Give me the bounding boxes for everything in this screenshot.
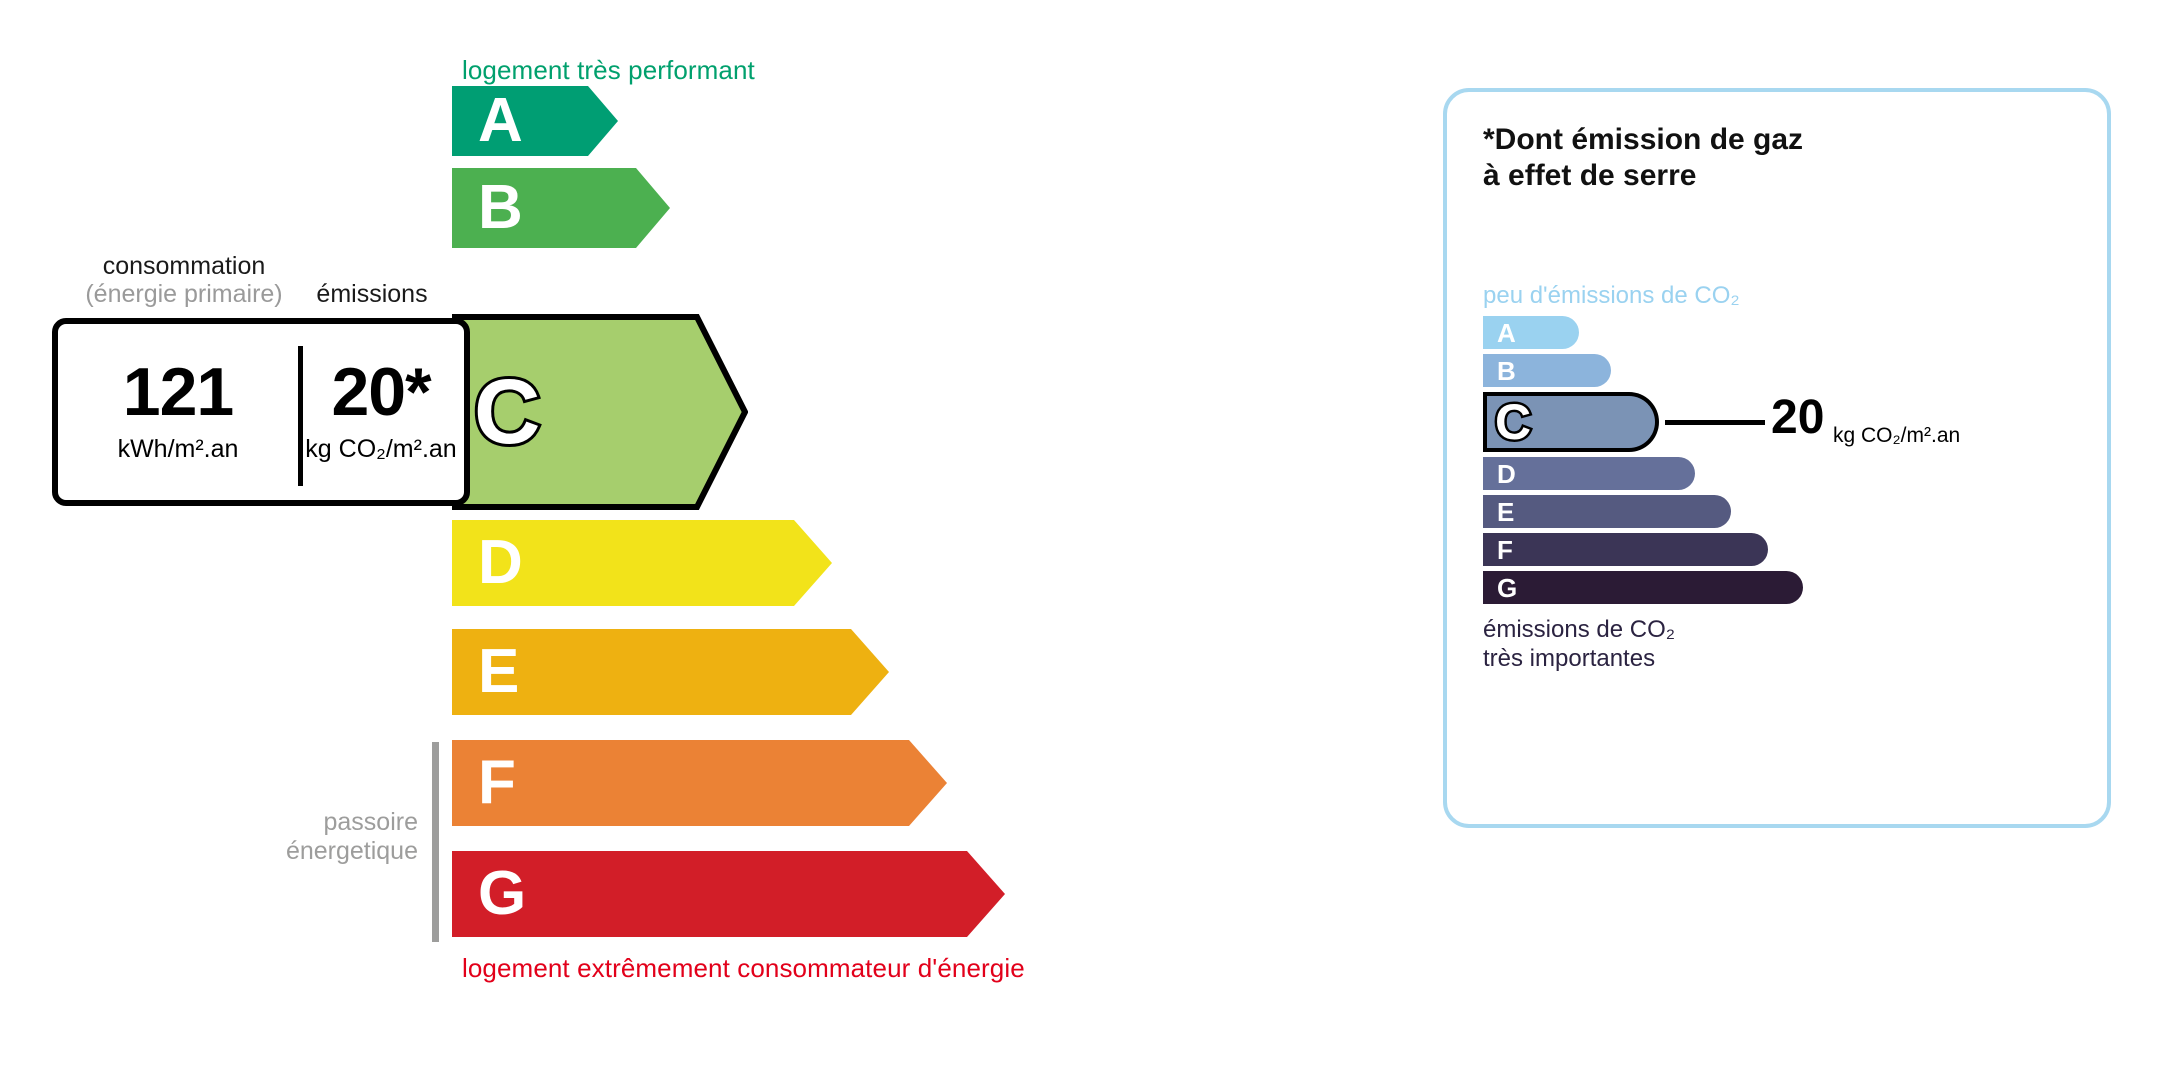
grade-arrow-a: A [452, 86, 618, 156]
consumption-value-cell: 121 kWh/m².an [58, 324, 298, 500]
co2-letter-a: A [1497, 320, 1516, 346]
co2-panel: *Dont émission de gaz à effet de serre p… [1443, 88, 2111, 828]
grade-arrow-d: D [452, 520, 832, 606]
grade-letter-e: E [478, 641, 519, 703]
co2-row-b: B [1483, 354, 2083, 387]
grade-arrow-c-selected: C [452, 314, 748, 510]
co2-value-unit: kg CO₂/m².an [1833, 424, 1960, 448]
grade-row-g: G [452, 851, 1005, 937]
grade-letter-d: D [478, 532, 523, 594]
grade-arrow-e: E [452, 629, 889, 715]
co2-leader-line [1665, 420, 1765, 425]
co2-letter-g: G [1497, 575, 1517, 601]
consumption-header-line1: consommation [103, 252, 266, 280]
grade-row-e: E [452, 629, 889, 715]
emissions-header: émissions [302, 280, 442, 309]
grade-arrow-g: G [452, 851, 1005, 937]
co2-bar-list: A B C 20 kg CO₂/m².an D E F G [1483, 316, 2083, 609]
co2-row-g: G [1483, 571, 2083, 604]
consumption-header: consommation (énergie primaire) [64, 252, 304, 308]
emissions-value: 20* [331, 360, 430, 425]
passoire-label-line2: énergetique [250, 837, 418, 866]
consumption-header-line2: (énergie primaire) [64, 280, 304, 308]
co2-row-a: A [1483, 316, 2083, 349]
grade-row-c: C [452, 314, 748, 510]
passoire-bracket [432, 742, 439, 942]
grade-letter-f: F [478, 752, 516, 814]
co2-bottom-legend-line1: émissions de CO₂ [1483, 616, 1675, 645]
co2-letter-f: F [1497, 537, 1513, 563]
co2-letter-e: E [1497, 499, 1514, 525]
co2-bar-g [1483, 571, 1803, 604]
co2-panel-title-line2: à effet de serre [1483, 158, 1803, 194]
passoire-label: passoire énergetique [250, 808, 418, 866]
emissions-unit: kg CO₂/m².an [305, 435, 456, 464]
co2-bar-f [1483, 533, 1768, 566]
co2-panel-title: *Dont émission de gaz à effet de serre [1483, 122, 1803, 194]
co2-row-e: E [1483, 495, 2083, 528]
co2-value: 20 [1771, 394, 1824, 442]
co2-panel-title-line1: *Dont émission de gaz [1483, 122, 1803, 158]
co2-bottom-legend-line2: très importantes [1483, 645, 1675, 674]
co2-top-legend: peu d'émissions de CO₂ [1483, 282, 1740, 310]
grade-row-f: F [452, 740, 947, 826]
grade-letter-g: G [478, 863, 526, 925]
co2-bottom-legend: émissions de CO₂ très importantes [1483, 616, 1675, 674]
co2-letter-c: C [1495, 397, 1531, 447]
grade-letter-c: C [474, 366, 540, 458]
co2-row-d: D [1483, 457, 2083, 490]
grade-letter-b: B [478, 177, 523, 239]
emissions-value-cell: 20* kg CO₂/m².an [298, 324, 464, 500]
co2-row-c-selected: C 20 kg CO₂/m².an [1483, 392, 2083, 452]
co2-bar-c-left-edge [1483, 392, 1487, 452]
co2-bar-e [1483, 495, 1731, 528]
passoire-label-line1: passoire [250, 808, 418, 837]
scale-bottom-legend: logement extrêmement consommateur d'éner… [462, 953, 1025, 984]
scale-top-legend: logement très performant [462, 55, 755, 86]
grade-arrow-b: B [452, 168, 670, 248]
value-box: 121 kWh/m².an 20* kg CO₂/m².an [52, 318, 470, 506]
consumption-unit: kWh/m².an [118, 435, 239, 464]
co2-row-f: F [1483, 533, 2083, 566]
grade-row-d: D [452, 520, 832, 606]
energy-performance-diagram: logement très performant consommation (é… [0, 0, 1380, 1079]
grade-row-b: B [452, 168, 670, 248]
co2-letter-b: B [1497, 358, 1516, 384]
grade-row-a: A [452, 86, 618, 156]
grade-arrow-f: F [452, 740, 947, 826]
consumption-value: 121 [123, 360, 233, 425]
co2-letter-d: D [1497, 461, 1516, 487]
grade-letter-a: A [478, 90, 523, 152]
